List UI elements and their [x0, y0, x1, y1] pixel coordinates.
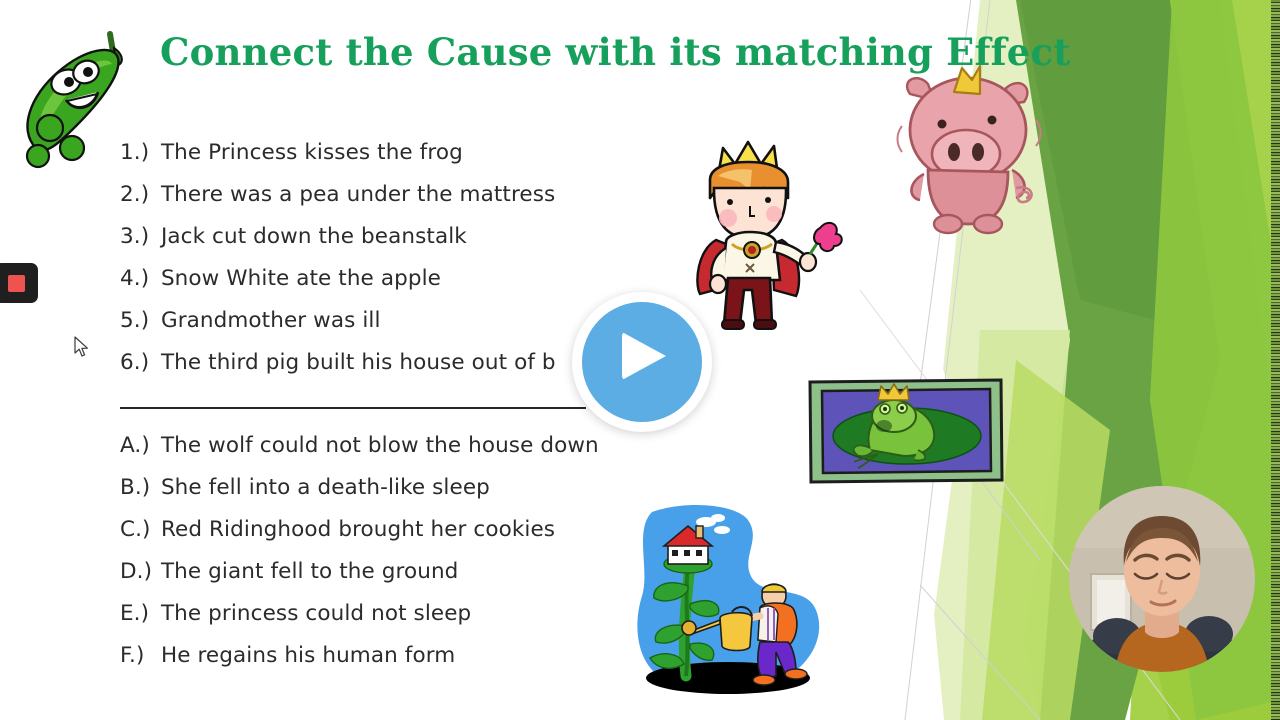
- stop-square-icon: [8, 275, 25, 292]
- list-item: 6.) The third pig built his house out of…: [120, 342, 556, 384]
- slide-title: Connect the Cause with its matching Effe…: [160, 30, 960, 74]
- list-item-text: The giant fell to the ground: [161, 559, 459, 584]
- list-item-label: 4.): [120, 258, 154, 300]
- pig-character-icon: [884, 58, 1054, 233]
- list-item-label: 5.): [120, 300, 154, 342]
- list-item-label: B.): [120, 467, 154, 509]
- list-item-text: The third pig built his house out of b: [161, 350, 556, 375]
- list-item-label: A.): [120, 425, 154, 467]
- list-divider: [120, 407, 586, 409]
- play-button[interactable]: [572, 292, 712, 432]
- list-item-text: The princess could not sleep: [161, 601, 471, 626]
- edge-artifact-strip: [1271, 0, 1280, 720]
- list-item-label: 6.): [120, 342, 154, 384]
- list-item-label: D.): [120, 551, 154, 593]
- list-item-label: E.): [120, 593, 154, 635]
- causes-list: 1.) The Princess kisses the frog 2.) The…: [120, 132, 556, 384]
- list-item: C.) Red Ridinghood brought her cookies: [120, 509, 599, 551]
- list-item-text: Jack cut down the beanstalk: [161, 224, 467, 249]
- list-item: F.) He regains his human form: [120, 635, 599, 677]
- list-item: 4.) Snow White ate the apple: [120, 258, 556, 300]
- list-item-label: 1.): [120, 132, 154, 174]
- stop-recording-button[interactable]: [0, 263, 38, 303]
- effects-list: A.) The wolf could not blow the house do…: [120, 425, 599, 677]
- mouse-pointer-icon: [74, 336, 90, 358]
- list-item-text: Grandmother was ill: [161, 308, 381, 333]
- list-item-text: The Princess kisses the frog: [161, 140, 463, 165]
- play-triangle-icon: [622, 332, 666, 380]
- list-item: 3.) Jack cut down the beanstalk: [120, 216, 556, 258]
- list-item-text: He regains his human form: [161, 643, 455, 668]
- list-item: E.) The princess could not sleep: [120, 593, 599, 635]
- list-item-text: Red Ridinghood brought her cookies: [161, 517, 555, 542]
- slide-stage: Connect the Cause with its matching Effe…: [0, 0, 1280, 720]
- list-item-label: F.): [120, 635, 154, 677]
- list-item-label: C.): [120, 509, 154, 551]
- list-item-text: The wolf could not blow the house down: [161, 433, 599, 458]
- beanstalk-picture-icon: [628, 500, 834, 706]
- list-item: 1.) The Princess kisses the frog: [120, 132, 556, 174]
- list-item-text: She fell into a death-like sleep: [161, 475, 490, 500]
- list-item: 5.) Grandmother was ill: [120, 300, 556, 342]
- list-item: B.) She fell into a death-like sleep: [120, 467, 599, 509]
- frog-prince-picture-icon: [808, 378, 1004, 484]
- presenter-webcam[interactable]: [1069, 486, 1255, 672]
- list-item: D.) The giant fell to the ground: [120, 551, 599, 593]
- list-item-label: 2.): [120, 174, 154, 216]
- list-item-text: There was a pea under the mattress: [161, 182, 555, 207]
- list-item-label: 3.): [120, 216, 154, 258]
- list-item: 2.) There was a pea under the mattress: [120, 174, 556, 216]
- list-item-text: Snow White ate the apple: [161, 266, 441, 291]
- list-item: A.) The wolf could not blow the house do…: [120, 425, 599, 467]
- pea-pod-character-icon: [14, 22, 132, 170]
